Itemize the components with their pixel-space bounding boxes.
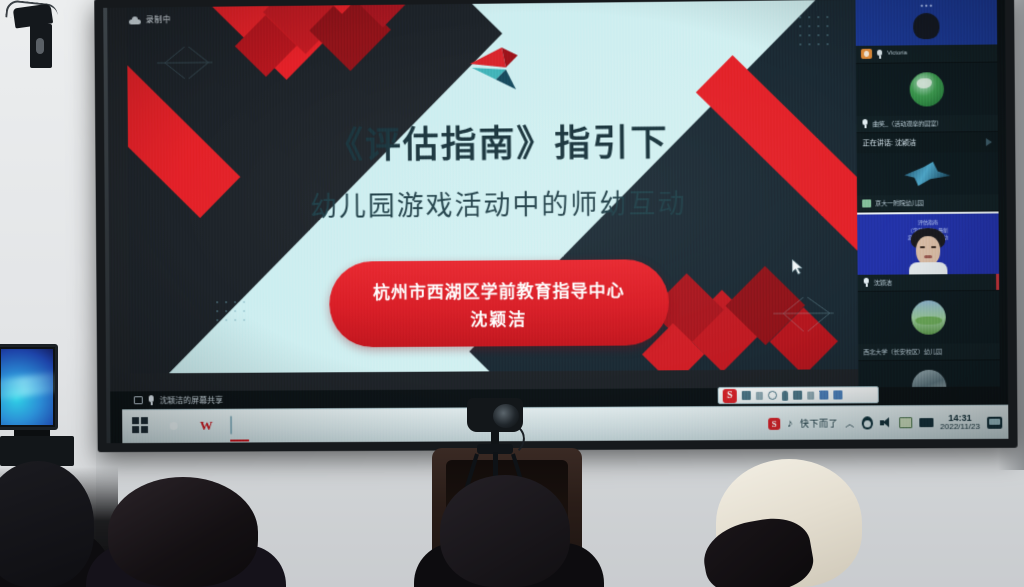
taskbar-apps: W <box>122 417 249 437</box>
display-screen: 录制中 <box>107 0 1008 443</box>
recording-label: 录制中 <box>146 14 171 25</box>
audience-head <box>440 475 570 587</box>
list-item[interactable]: 西北大学（长安校区）幼儿园 <box>858 291 1000 361</box>
penguin-icon[interactable] <box>861 416 872 429</box>
list-item[interactable]: 碑林区南院门幼儿园 <box>858 360 1000 387</box>
toolbox-icon[interactable] <box>833 390 842 399</box>
list-item[interactable]: 京大一附院幼儿园 <box>857 152 999 212</box>
emoji-icon[interactable] <box>793 391 802 400</box>
ime-status-label[interactable]: 快下而了 <box>800 417 838 430</box>
participant-video-tile[interactable]: 评估指南〔学前教育〕最新游戏活动中的师幼 <box>857 211 999 274</box>
tile-overlay-text: ● ● ● <box>855 2 996 10</box>
tile-person-silhouette <box>913 13 939 39</box>
decor-chevron-left-icon <box>155 43 215 83</box>
taskbar-item-meeting[interactable] <box>230 417 249 436</box>
side-monitor-screen <box>1 349 53 425</box>
keyboard-icon[interactable] <box>742 391 751 400</box>
participant-avatar-tile[interactable] <box>857 152 999 195</box>
participant-row[interactable]: Victoria <box>856 44 998 63</box>
skin-icon[interactable] <box>819 390 828 399</box>
side-monitor-glow <box>0 372 58 400</box>
active-speaker-label: 正在讲话: 沈颖洁 <box>863 138 916 149</box>
camera-body <box>467 398 523 432</box>
slide-subtitle: 幼儿园游戏活动中的师幼互动 <box>128 180 871 225</box>
audience-head <box>716 459 862 587</box>
avatar <box>911 300 946 334</box>
chevron-right-icon[interactable] <box>986 138 992 146</box>
active-speaker-notice: 正在讲话: 沈颖洁 <box>857 132 999 153</box>
mouse-cursor-icon <box>792 259 804 275</box>
sogou-ime-toolbar[interactable]: S <box>718 386 879 404</box>
host-badge-icon <box>861 49 872 59</box>
system-tray: S ♪ 快下而了 ︿ 14:31 2022/11/23 <box>768 413 1008 433</box>
meeting-app-window: 录制中 <box>107 0 1008 443</box>
participant-name: 西北大学（长安校区）幼儿园 <box>863 347 942 357</box>
clipboard-icon[interactable] <box>807 391 814 399</box>
photo-icon[interactable] <box>899 417 912 428</box>
participant-row[interactable]: 沈颖洁 <box>858 274 1000 291</box>
app-window-icon <box>230 416 232 435</box>
settings-icon[interactable] <box>768 391 777 400</box>
side-monitor <box>0 344 58 430</box>
decor-dotgrid-top-right <box>799 16 836 57</box>
participant-row[interactable]: 京大一附院幼儿园 <box>857 194 999 211</box>
mic-icon <box>148 395 155 405</box>
speaker-icon[interactable] <box>879 417 891 428</box>
participant-video-tile[interactable]: ● ● ● <box>855 0 997 46</box>
badge-presenter-name: 沈颖洁 <box>470 305 527 330</box>
audience-head <box>108 477 258 587</box>
list-item[interactable]: 曲笑_（活动观摩的园室） <box>856 63 998 134</box>
screenshot-root: 录制中 <box>0 0 1024 587</box>
shared-screen-area[interactable]: 录制中 <box>107 0 873 391</box>
battery-icon[interactable] <box>919 418 933 427</box>
avatar <box>904 162 951 187</box>
slide-presenter-badge: 杭州市西湖区学前教育指导中心 沈颖洁 <box>329 259 669 347</box>
participant-avatar-tile[interactable] <box>856 63 998 117</box>
list-item[interactable]: 评估指南〔学前教育〕最新游戏活动中的师幼 <box>857 211 999 291</box>
presentation-slide: 《评估指南》指引下 幼儿园游戏活动中的师幼互动 杭州市西湖区学前教育指导中心 沈… <box>127 0 873 373</box>
windows-taskbar[interactable]: W S ♪ 快下而了 ︿ <box>122 405 1008 444</box>
recording-indicator: 录制中 <box>129 14 171 25</box>
wall-bracket <box>30 24 52 68</box>
mic-icon[interactable] <box>861 119 868 128</box>
taskbar-item-browser[interactable] <box>165 417 184 436</box>
participant-name: 曲笑_（活动观摩的园室） <box>873 118 943 128</box>
start-button[interactable] <box>132 417 151 436</box>
participant-face <box>909 228 948 275</box>
participant-name: Victoria <box>887 50 907 56</box>
chevron-up-icon[interactable]: ︿ <box>845 416 854 429</box>
avatar <box>912 370 947 388</box>
mic-icon[interactable] <box>876 49 883 58</box>
arrow-bird-logo-icon <box>466 45 528 92</box>
screen-share-icon <box>134 396 143 404</box>
participant-row[interactable]: 曲笑_（活动观摩的园室） <box>856 115 998 132</box>
slide-title: 《评估指南》指引下 <box>128 112 871 171</box>
avatar <box>910 72 945 107</box>
mic-icon[interactable] <box>863 278 870 287</box>
active-app-underline <box>230 439 249 441</box>
windows-icon <box>132 417 148 433</box>
handwriting-icon[interactable] <box>756 391 763 399</box>
participant-avatar-tile[interactable] <box>858 360 1000 387</box>
camera-lens <box>493 404 519 428</box>
clock[interactable]: 14:31 2022/11/23 <box>940 413 980 432</box>
list-item[interactable]: ● ● ● Victoria <box>855 0 997 64</box>
sogou-logo-icon[interactable]: S <box>723 388 737 402</box>
wps-w-icon: W <box>197 417 215 435</box>
badge-organization: 杭州市西湖区学前教育指导中心 <box>373 276 625 303</box>
music-note-icon[interactable]: ♪ <box>787 417 793 429</box>
sogou-tray-icon[interactable]: S <box>768 417 780 429</box>
cloud-icon <box>129 16 141 24</box>
screen-share-label: 沈颖洁的屏幕共享 <box>160 394 223 405</box>
decor-dotgrid-bottom-left <box>216 301 252 333</box>
screen-share-icon[interactable] <box>862 199 871 207</box>
clock-date: 2022/11/23 <box>940 423 980 432</box>
decor-chevron-right-icon <box>769 291 836 336</box>
voice-input-icon[interactable] <box>782 390 788 400</box>
participant-name: 沈颖洁 <box>874 278 892 287</box>
participant-name: 京大一附院幼儿园 <box>875 198 924 207</box>
taskbar-item-wps[interactable]: W <box>197 417 216 436</box>
participant-row[interactable]: 西北大学（长安校区）幼儿园 <box>858 343 1000 360</box>
wall-display: 录制中 <box>94 0 1017 452</box>
participant-list[interactable]: ● ● ● Victoria <box>855 0 999 387</box>
show-desktop-icon[interactable] <box>987 416 1002 428</box>
participant-avatar-tile[interactable] <box>858 291 1000 344</box>
